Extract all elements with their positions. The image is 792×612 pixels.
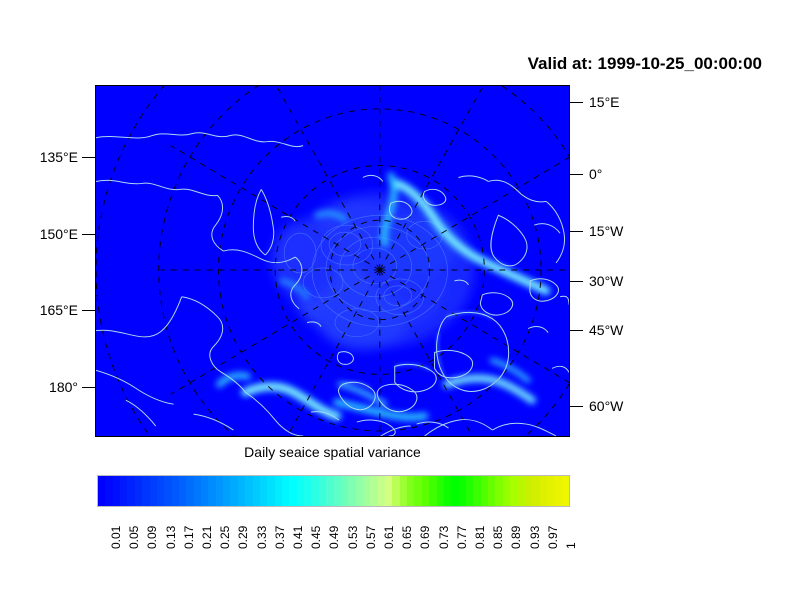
colorbar-cell [540,476,547,506]
tick-right-3 [570,281,583,282]
colorbar-tick-label: 0.81 [474,526,486,549]
axis-label-right-0: 0° [589,167,602,181]
colorbar-cell [208,476,215,506]
tick-right-5 [570,406,583,407]
colorbar-cell [311,476,318,506]
colorbar-cell [113,476,120,506]
colorbar-tick-label: 0.01 [110,526,122,549]
colorbar-cell [554,476,561,506]
axis-label-right-45w: 45°W [589,323,623,337]
colorbar-cell [319,476,326,506]
tick-left-2 [82,310,95,311]
colorbar-cell [392,476,399,506]
colorbar-cell [179,476,186,506]
colorbar-cell [481,476,488,506]
colorbar-tick-label: 0.13 [165,526,177,549]
colorbar-cell [253,476,260,506]
tick-left-1 [82,234,95,235]
colorbar-cell [356,476,363,506]
colorbar-tick-labels: 0.010.050.090.130.170.210.250.290.330.37… [97,509,570,569]
colorbar-cell [223,476,230,506]
colorbar-cell [466,476,473,506]
colorbar-cell [172,476,179,506]
colorbar-cell [400,476,407,506]
colorbar-tick-label: 0.93 [529,526,541,549]
colorbar-tick-label: 0.25 [219,526,231,549]
colorbar-tick-label: 0.73 [438,526,450,549]
colorbar-cell [216,476,223,506]
colorbar-cell [150,476,157,506]
axis-label-right-30w: 30°W [589,274,623,288]
map-plot-area [95,85,570,437]
colorbar-cell [444,476,451,506]
colorbar-cell [429,476,436,506]
axis-label-right-15w: 15°W [589,224,623,238]
axis-label-left-180: 180° [49,380,78,394]
tick-right-4 [570,330,583,331]
tick-left-3 [82,387,95,388]
colorbar-tick-label: 0.89 [510,526,522,549]
colorbar-gradient [97,475,570,507]
colorbar-tick-label: 0.53 [347,526,359,549]
colorbar-tick-label: 0.61 [383,526,395,549]
colorbar-cell [157,476,164,506]
arctic-map [96,86,569,436]
page-title: Valid at: 1999-10-25_00:00:00 [0,54,762,74]
colorbar-cell [473,476,480,506]
colorbar-tick-label: 0.09 [146,526,158,549]
colorbar-cell [378,476,385,506]
colorbar-cell [437,476,444,506]
colorbar-cell [532,476,539,506]
colorbar-cell [201,476,208,506]
colorbar-cell [459,476,466,506]
colorbar-cell [422,476,429,506]
colorbar-tick-label: 0.45 [310,526,322,549]
colorbar-tick-label: 0.65 [401,526,413,549]
colorbar-cell [120,476,127,506]
colorbar-cell [451,476,458,506]
colorbar-cell [260,476,267,506]
colorbar-cell [186,476,193,506]
colorbar-cell [194,476,201,506]
tick-right-2 [570,231,583,232]
axis-label-left-165e: 165°E [40,303,78,317]
colorbar-cell [238,476,245,506]
colorbar-cell [297,476,304,506]
colorbar-cell [525,476,532,506]
colorbar-cell [348,476,355,506]
colorbar-tick-label: 0.37 [274,526,286,549]
tick-left-0 [82,157,95,158]
colorbar-cell [267,476,274,506]
colorbar-tick-label: 0.41 [292,526,304,549]
axis-label-left-135e: 135°E [40,150,78,164]
colorbar-tick-label: 1 [565,542,577,549]
colorbar-cell [341,476,348,506]
colorbar-tick-label: 0.57 [365,526,377,549]
colorbar-cell [142,476,149,506]
colorbar-cell [517,476,524,506]
colorbar-tick-label: 0.77 [456,526,468,549]
colorbar [97,475,570,507]
colorbar-tick-label: 0.85 [492,526,504,549]
colorbar-cell [289,476,296,506]
colorbar-tick-label: 0.97 [547,526,559,549]
colorbar-tick-label: 0.17 [183,526,195,549]
colorbar-cell [495,476,502,506]
colorbar-cell [385,476,392,506]
colorbar-cell [105,476,112,506]
colorbar-cell [164,476,171,506]
axis-label-right-15e: 15°E [589,95,620,109]
colorbar-title: Daily seaice spatial variance [95,444,570,460]
colorbar-cell [562,476,569,506]
colorbar-tick-label: 0.29 [237,526,249,549]
colorbar-cell [304,476,311,506]
colorbar-tick-label: 0.05 [128,526,140,549]
colorbar-cell [275,476,282,506]
axis-label-right-60w: 60°W [589,399,623,413]
colorbar-cell [230,476,237,506]
colorbar-cell [503,476,510,506]
colorbar-cell [334,476,341,506]
colorbar-cell [363,476,370,506]
colorbar-cell [370,476,377,506]
colorbar-cell [135,476,142,506]
colorbar-tick-label: 0.21 [201,526,213,549]
colorbar-cell [127,476,134,506]
colorbar-cell [282,476,289,506]
colorbar-cell [326,476,333,506]
colorbar-cell [98,476,105,506]
colorbar-tick-label: 0.49 [328,526,340,549]
colorbar-cell [414,476,421,506]
tick-right-0 [570,102,583,103]
colorbar-cell [547,476,554,506]
colorbar-tick-label: 0.33 [256,526,268,549]
axis-label-left-150e: 150°E [40,227,78,241]
colorbar-cell [407,476,414,506]
colorbar-tick-label: 0.69 [419,526,431,549]
colorbar-cell [488,476,495,506]
colorbar-cell [245,476,252,506]
colorbar-cell [510,476,517,506]
tick-right-1 [570,174,583,175]
